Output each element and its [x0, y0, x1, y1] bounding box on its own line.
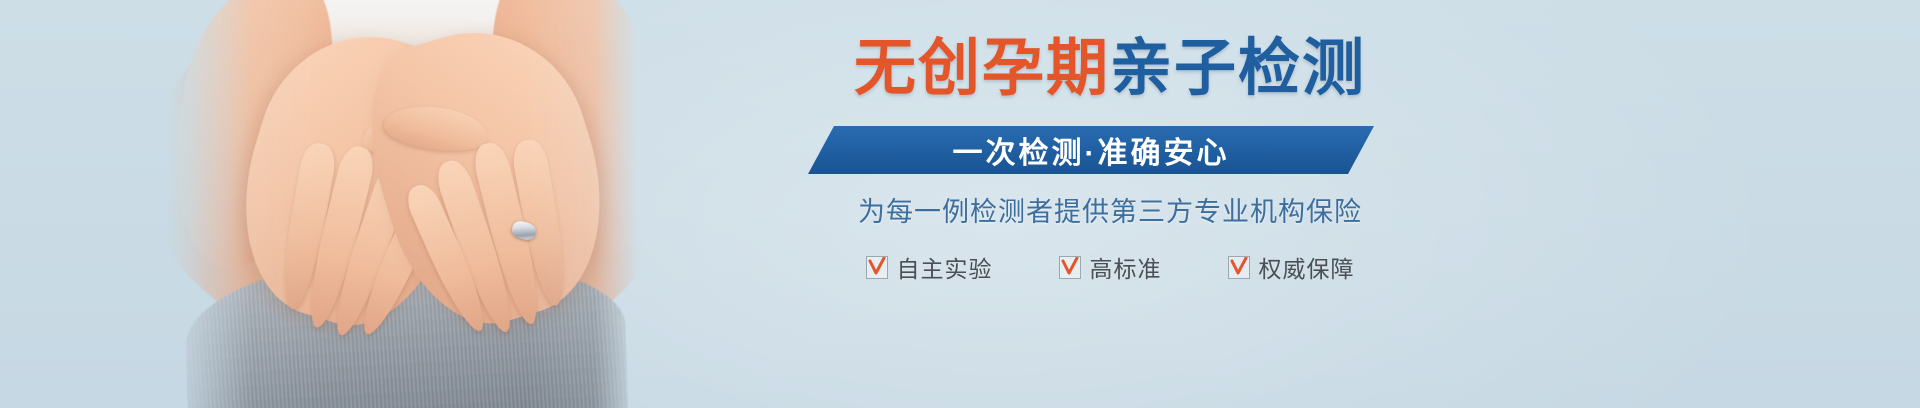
promo-banner: 无创孕期亲子检测 一次检测·准确安心 为每一例检测者提供第三方专业机构保险 自主…	[0, 0, 1920, 408]
headline-part-blue: 亲子检测	[1110, 34, 1366, 103]
banner-content: 无创孕期亲子检测 一次检测·准确安心 为每一例检测者提供第三方专业机构保险 自主…	[760, 0, 1460, 408]
feature-item: 高标准	[1059, 250, 1162, 284]
checkbox-checked-icon	[1059, 256, 1081, 279]
tagline-ribbon: 一次检测·准确安心	[808, 126, 1374, 174]
subtitle: 为每一例检测者提供第三方专业机构保险	[760, 190, 1460, 229]
tagline-ribbon-text: 一次检测·准确安心	[953, 128, 1230, 172]
feature-list: 自主实验 高标准 权威保障	[760, 250, 1460, 284]
checkbox-checked-icon	[866, 256, 888, 279]
right-thumb	[382, 101, 490, 155]
feature-item: 自主实验	[866, 250, 993, 284]
feature-item: 权威保障	[1228, 250, 1355, 284]
headline-part-orange: 无创孕期	[854, 34, 1110, 103]
checkbox-checked-icon	[1228, 256, 1250, 279]
headline: 无创孕期亲子检测	[760, 36, 1460, 103]
pregnant-belly-hands-heart-photo	[168, 0, 638, 408]
feature-label: 权威保障	[1259, 250, 1355, 284]
feature-label: 高标准	[1090, 250, 1162, 284]
feature-label: 自主实验	[897, 250, 993, 284]
